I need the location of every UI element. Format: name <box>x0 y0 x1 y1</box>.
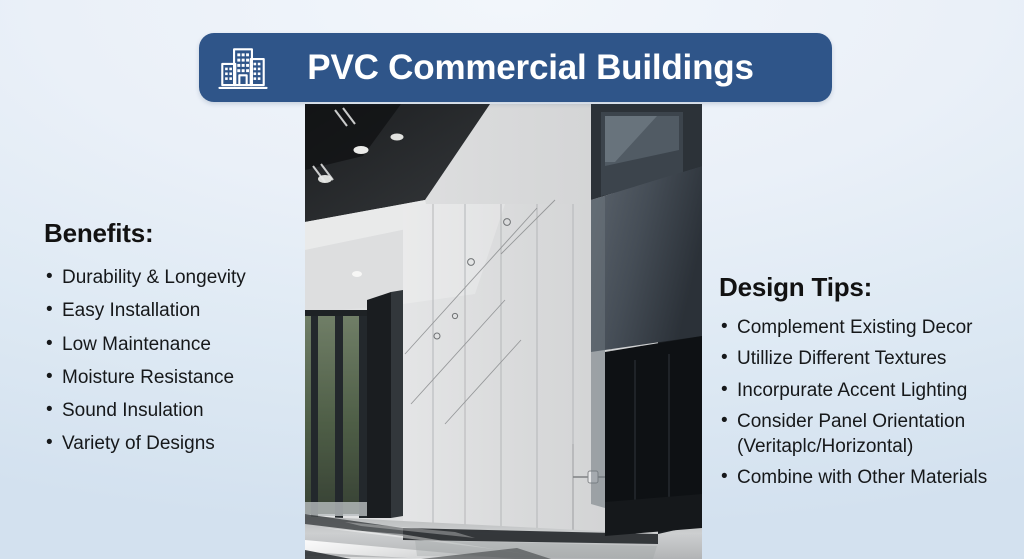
list-item: Sound Insulation <box>44 398 296 423</box>
list-item: Moisture Resistance <box>44 365 296 390</box>
list-item: Easy Installation <box>44 298 296 323</box>
pvc-panel-interior-photo <box>305 104 702 559</box>
page-title: PVC Commercial Buildings <box>269 48 832 88</box>
infographic-canvas: PVC Commercial Buildings Benefits: Durab… <box>0 0 1024 559</box>
list-item: Complement Existing Decor <box>719 315 1011 340</box>
list-item: Combine with Other Materials <box>719 465 1011 490</box>
benefits-list: Durability & Longevity Easy Installation… <box>44 265 296 457</box>
list-item: Low Maintenance <box>44 332 296 357</box>
title-banner: PVC Commercial Buildings <box>199 33 832 102</box>
panel-orientation-note: (Veritaplc/Horizontal) <box>737 434 1011 459</box>
list-item: Durability & Longevity <box>44 265 296 290</box>
list-item: Consider Panel Orientation (Veritaplc/Ho… <box>719 409 1011 460</box>
list-item-text: Consider Panel Orientation <box>737 411 965 432</box>
list-item: Utillize Different Textures <box>719 346 1011 371</box>
list-item: Incorpurate Accent Lighting <box>719 378 1011 403</box>
benefits-column: Benefits: Durability & Longevity Easy In… <box>44 218 296 465</box>
design-tips-list: Complement Existing Decor Utillize Diffe… <box>719 315 1011 491</box>
office-building-icon <box>217 42 269 94</box>
design-tips-column: Design Tips: Complement Existing Decor U… <box>719 272 1011 497</box>
interior-photo-graphic <box>305 104 702 559</box>
design-tips-heading: Design Tips: <box>719 272 1011 303</box>
list-item: Variety of Designs <box>44 431 296 456</box>
benefits-heading: Benefits: <box>44 218 296 249</box>
